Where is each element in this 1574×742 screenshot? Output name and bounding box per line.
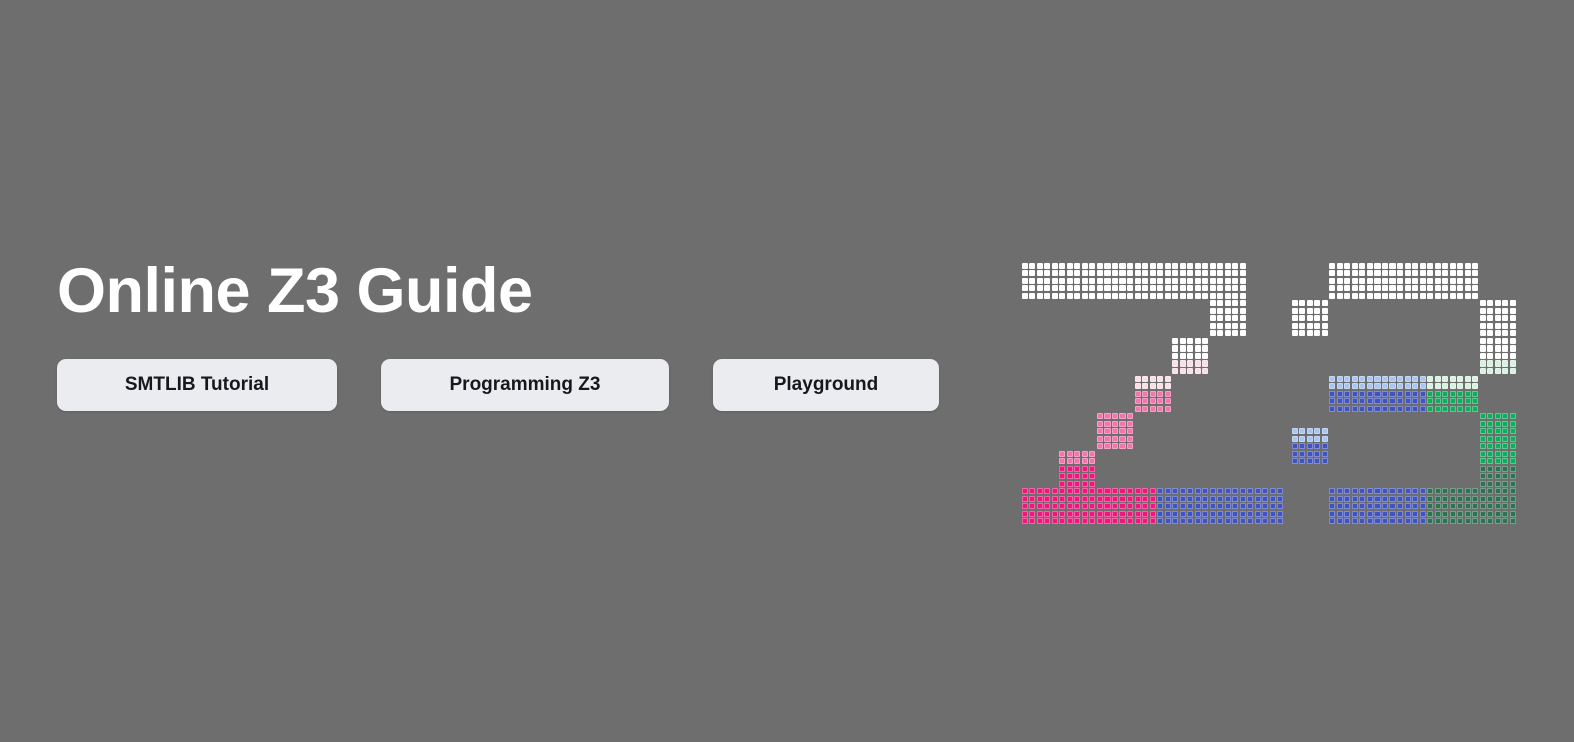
pixel-cell (1382, 488, 1388, 494)
pixel-cell (1435, 406, 1441, 412)
pixel-cell (1292, 330, 1298, 336)
pixel-cell (1405, 383, 1411, 389)
pixel-cell (1217, 330, 1223, 336)
pixel-cell (1135, 496, 1141, 502)
pixel-cell (1277, 496, 1283, 502)
pixel-cell (1337, 376, 1343, 382)
pixel-cell (1359, 376, 1365, 382)
pixel-cell (1382, 398, 1388, 404)
pixel-cell (1292, 451, 1298, 457)
pixel-cell (1119, 496, 1125, 502)
pixel-cell (1240, 263, 1246, 269)
pixel-cell (1420, 383, 1426, 389)
pixel-cell (1472, 406, 1478, 412)
pixel-cell (1202, 285, 1208, 291)
pixel-cell (1292, 458, 1298, 464)
pixel-cell (1119, 511, 1125, 517)
pixel-cell (1435, 511, 1441, 517)
pixel-cell (1097, 518, 1103, 524)
pixel-cell (1487, 368, 1493, 374)
pixel-cell (1104, 436, 1110, 442)
pixel-cell (1150, 503, 1156, 509)
pixel-cell (1074, 466, 1080, 472)
pixel-cell (1232, 293, 1238, 299)
pixel-cell (1367, 270, 1373, 276)
pixel-cell (1165, 376, 1171, 382)
pixel-cell (1150, 383, 1156, 389)
pixel-cell (1195, 345, 1201, 351)
pixel-cell (1435, 278, 1441, 284)
pixel-cell (1097, 413, 1103, 419)
pixel-cell (1082, 466, 1088, 472)
pixel-cell (1052, 496, 1058, 502)
pixel-cell (1202, 353, 1208, 359)
pixel-cell (1502, 353, 1508, 359)
pixel-cell (1420, 391, 1426, 397)
pixel-cell (1270, 511, 1276, 517)
pixel-cell (1067, 496, 1073, 502)
pixel-cell (1142, 383, 1148, 389)
pixel-cell (1299, 428, 1305, 434)
pixel-cell (1397, 518, 1403, 524)
pixel-cell (1495, 315, 1501, 321)
pixel-cell (1450, 376, 1456, 382)
pixel-cell (1217, 488, 1223, 494)
pixel-cell (1412, 496, 1418, 502)
pixel-cell (1104, 428, 1110, 434)
pixel-cell (1119, 443, 1125, 449)
pixel-cell (1240, 270, 1246, 276)
pixel-cell (1420, 496, 1426, 502)
pixel-cell (1412, 270, 1418, 276)
pixel-cell (1082, 451, 1088, 457)
pixel-cell (1172, 360, 1178, 366)
pixel-cell (1442, 503, 1448, 509)
pixel-cell (1450, 278, 1456, 284)
pixel-cell (1180, 368, 1186, 374)
pixel-cell (1119, 270, 1125, 276)
pixel-cell (1382, 270, 1388, 276)
pixel-cell (1299, 315, 1305, 321)
pixel-cell (1457, 270, 1463, 276)
pixel-cell (1427, 278, 1433, 284)
pixel-cell (1074, 488, 1080, 494)
pixel-cell (1420, 263, 1426, 269)
pixel-cell (1412, 511, 1418, 517)
pixel-cell (1165, 406, 1171, 412)
pixel-cell (1225, 263, 1231, 269)
pixel-cell (1225, 315, 1231, 321)
pixel-cell (1142, 518, 1148, 524)
pixel-cell (1135, 391, 1141, 397)
pixel-cell (1344, 398, 1350, 404)
pixel-cell (1307, 323, 1313, 329)
pixel-cell (1044, 518, 1050, 524)
pixel-cell (1157, 278, 1163, 284)
pixel-cell (1307, 428, 1313, 434)
pixel-cell (1352, 406, 1358, 412)
pixel-cell (1389, 376, 1395, 382)
pixel-cell (1150, 406, 1156, 412)
programming-z3-button[interactable]: Programming Z3 (381, 359, 669, 411)
pixel-cell (1457, 406, 1463, 412)
pixel-cell (1450, 391, 1456, 397)
pixel-cell (1487, 421, 1493, 427)
pixel-cell (1359, 496, 1365, 502)
pixel-cell (1450, 503, 1456, 509)
pixel-cell (1480, 511, 1486, 517)
pixel-cell (1029, 278, 1035, 284)
pixel-cell (1367, 376, 1373, 382)
pixel-cell (1232, 496, 1238, 502)
pixel-cell (1202, 511, 1208, 517)
pixel-cell (1510, 511, 1516, 517)
pixel-cell (1420, 488, 1426, 494)
pixel-cell (1435, 518, 1441, 524)
pixel-cell (1082, 285, 1088, 291)
pixel-cell (1277, 488, 1283, 494)
pixel-cell (1510, 300, 1516, 306)
pixel-cell (1195, 488, 1201, 494)
pixel-cell (1465, 496, 1471, 502)
pixel-cell (1187, 511, 1193, 517)
pixel-cell (1510, 330, 1516, 336)
pixel-cell (1135, 263, 1141, 269)
pixel-cell (1487, 308, 1493, 314)
pixel-cell (1150, 391, 1156, 397)
pixel-cell (1374, 270, 1380, 276)
pixel-cell (1502, 315, 1508, 321)
pixel-cell (1442, 376, 1448, 382)
pixel-cell (1314, 323, 1320, 329)
pixel-cell (1465, 383, 1471, 389)
pixel-cell (1232, 330, 1238, 336)
playground-button[interactable]: Playground (713, 359, 939, 411)
pixel-cell (1127, 436, 1133, 442)
pixel-cell (1142, 503, 1148, 509)
pixel-cell (1502, 458, 1508, 464)
pixel-cell (1480, 428, 1486, 434)
pixel-cell (1382, 503, 1388, 509)
pixel-cell (1262, 511, 1268, 517)
pixel-cell (1495, 518, 1501, 524)
pixel-cell (1329, 398, 1335, 404)
pixel-cell (1180, 285, 1186, 291)
pixel-cell (1435, 293, 1441, 299)
pixel-cell (1412, 376, 1418, 382)
pixel-cell (1097, 496, 1103, 502)
pixel-cell (1389, 391, 1395, 397)
pixel-cell (1472, 278, 1478, 284)
pixel-cell (1442, 398, 1448, 404)
pixel-cell (1240, 323, 1246, 329)
pixel-cell (1307, 436, 1313, 442)
pixel-cell (1337, 503, 1343, 509)
pixel-cell (1487, 443, 1493, 449)
pixel-cell (1465, 263, 1471, 269)
pixel-cell (1487, 428, 1493, 434)
pixel-cell (1112, 488, 1118, 494)
pixel-cell (1022, 511, 1028, 517)
pixel-cell (1022, 503, 1028, 509)
pixel-cell (1495, 300, 1501, 306)
pixel-cell (1104, 511, 1110, 517)
pixel-cell (1322, 323, 1328, 329)
pixel-cell (1344, 391, 1350, 397)
pixel-cell (1442, 488, 1448, 494)
smtlib-tutorial-button[interactable]: SMTLIB Tutorial (57, 359, 337, 411)
pixel-cell (1329, 496, 1335, 502)
pixel-cell (1420, 503, 1426, 509)
pixel-cell (1472, 376, 1478, 382)
pixel-cell (1157, 270, 1163, 276)
pixel-cell (1089, 488, 1095, 494)
pixel-cell (1165, 263, 1171, 269)
pixel-cell (1397, 511, 1403, 517)
pixel-cell (1142, 270, 1148, 276)
pixel-cell (1329, 278, 1335, 284)
pixel-cell (1389, 488, 1395, 494)
pixel-cell (1359, 511, 1365, 517)
pixel-cell (1487, 413, 1493, 419)
pixel-cell (1374, 511, 1380, 517)
pixel-cell (1427, 263, 1433, 269)
pixel-cell (1359, 398, 1365, 404)
pixel-cell (1157, 406, 1163, 412)
pixel-cell (1187, 263, 1193, 269)
pixel-cell (1157, 398, 1163, 404)
pixel-cell (1195, 263, 1201, 269)
pixel-cell (1187, 270, 1193, 276)
pixel-cell (1135, 376, 1141, 382)
pixel-cell (1465, 278, 1471, 284)
pixel-cell (1067, 458, 1073, 464)
pixel-cell (1502, 428, 1508, 434)
pixel-cell (1465, 488, 1471, 494)
pixel-cell (1495, 338, 1501, 344)
pixel-cell (1187, 345, 1193, 351)
pixel-cell (1472, 496, 1478, 502)
pixel-cell (1299, 451, 1305, 457)
pixel-cell (1359, 488, 1365, 494)
pixel-cell (1405, 285, 1411, 291)
pixel-cell (1480, 458, 1486, 464)
pixel-cell (1119, 263, 1125, 269)
pixel-cell (1359, 285, 1365, 291)
pixel-cell (1089, 481, 1095, 487)
pixel-cell (1150, 293, 1156, 299)
pixel-cell (1465, 398, 1471, 404)
pixel-cell (1435, 398, 1441, 404)
pixel-cell (1412, 488, 1418, 494)
pixel-cell (1195, 518, 1201, 524)
pixel-cell (1397, 406, 1403, 412)
pixel-cell (1352, 511, 1358, 517)
pixel-cell (1495, 413, 1501, 419)
pixel-cell (1135, 285, 1141, 291)
pixel-cell (1344, 488, 1350, 494)
pixel-cell (1344, 285, 1350, 291)
pixel-cell (1044, 503, 1050, 509)
pixel-cell (1119, 428, 1125, 434)
pixel-cell (1104, 488, 1110, 494)
pixel-cell (1502, 360, 1508, 366)
pixel-cell (1255, 518, 1261, 524)
pixel-cell (1067, 451, 1073, 457)
pixel-cell (1277, 511, 1283, 517)
pixel-cell (1074, 458, 1080, 464)
pixel-cell (1344, 496, 1350, 502)
pixel-cell (1427, 398, 1433, 404)
pixel-cell (1480, 421, 1486, 427)
pixel-cell (1420, 376, 1426, 382)
pixel-cell (1142, 293, 1148, 299)
pixel-cell (1352, 278, 1358, 284)
pixel-cell (1150, 496, 1156, 502)
pixel-cell (1097, 270, 1103, 276)
pixel-cell (1067, 263, 1073, 269)
pixel-cell (1427, 488, 1433, 494)
pixel-cell (1299, 436, 1305, 442)
pixel-cell (1502, 443, 1508, 449)
pixel-cell (1427, 391, 1433, 397)
pixel-cell (1292, 308, 1298, 314)
pixel-cell (1195, 496, 1201, 502)
pixel-cell (1074, 473, 1080, 479)
pixel-cell (1465, 503, 1471, 509)
pixel-cell (1480, 323, 1486, 329)
pixel-cell (1082, 496, 1088, 502)
pixel-cell (1059, 518, 1065, 524)
pixel-cell (1487, 436, 1493, 442)
pixel-cell (1165, 285, 1171, 291)
pixel-cell (1037, 503, 1043, 509)
pixel-cell (1337, 278, 1343, 284)
pixel-cell (1397, 488, 1403, 494)
pixel-cell (1337, 398, 1343, 404)
pixel-cell (1232, 270, 1238, 276)
pixel-cell (1112, 278, 1118, 284)
pixel-cell (1119, 413, 1125, 419)
pixel-cell (1112, 428, 1118, 434)
pixel-cell (1240, 315, 1246, 321)
pixel-cell (1487, 323, 1493, 329)
pixel-cell (1247, 511, 1253, 517)
pixel-cell (1097, 285, 1103, 291)
pixel-cell (1195, 278, 1201, 284)
pixel-cell (1299, 323, 1305, 329)
pixel-cell (1089, 278, 1095, 284)
pixel-cell (1502, 518, 1508, 524)
pixel-cell (1457, 496, 1463, 502)
pixel-cell (1067, 511, 1073, 517)
pixel-cell (1240, 308, 1246, 314)
pixel-cell (1374, 398, 1380, 404)
pixel-cell (1510, 503, 1516, 509)
pixel-cell (1314, 451, 1320, 457)
pixel-cell (1165, 270, 1171, 276)
pixel-cell (1510, 315, 1516, 321)
pixel-cell (1104, 278, 1110, 284)
pixel-cell (1472, 263, 1478, 269)
pixel-cell (1074, 511, 1080, 517)
pixel-cell (1487, 451, 1493, 457)
pixel-cell (1472, 503, 1478, 509)
pixel-cell (1480, 300, 1486, 306)
pixel-cell (1277, 518, 1283, 524)
pixel-cell (1495, 436, 1501, 442)
pixel-cell (1352, 503, 1358, 509)
pixel-cell (1202, 360, 1208, 366)
pixel-cell (1059, 458, 1065, 464)
pixel-cell (1292, 300, 1298, 306)
pixel-cell (1427, 406, 1433, 412)
pixel-cell (1480, 413, 1486, 419)
pixel-cell (1314, 330, 1320, 336)
pixel-cell (1405, 270, 1411, 276)
pixel-cell (1487, 360, 1493, 366)
pixel-cell (1442, 391, 1448, 397)
pixel-cell (1352, 376, 1358, 382)
pixel-cell (1314, 428, 1320, 434)
pixel-cell (1135, 518, 1141, 524)
pixel-cell (1270, 488, 1276, 494)
pixel-cell (1187, 285, 1193, 291)
pixel-cell (1180, 270, 1186, 276)
pixel-cell (1427, 270, 1433, 276)
pixel-cell (1337, 496, 1343, 502)
pixel-cell (1405, 391, 1411, 397)
pixel-cell (1029, 263, 1035, 269)
pixel-cell (1412, 263, 1418, 269)
pixel-cell (1202, 293, 1208, 299)
pixel-cell (1344, 406, 1350, 412)
pixel-cell (1210, 503, 1216, 509)
pixel-cell (1359, 270, 1365, 276)
pixel-cell (1420, 398, 1426, 404)
pixel-cell (1089, 473, 1095, 479)
pixel-cell (1157, 285, 1163, 291)
pixel-cell (1225, 278, 1231, 284)
pixel-cell (1127, 270, 1133, 276)
pixel-cell (1082, 458, 1088, 464)
pixel-cell (1022, 270, 1028, 276)
pixel-cell (1442, 383, 1448, 389)
pixel-cell (1127, 511, 1133, 517)
pixel-cell (1157, 496, 1163, 502)
pixel-cell (1225, 293, 1231, 299)
pixel-cell (1232, 263, 1238, 269)
pixel-cell (1037, 270, 1043, 276)
pixel-cell (1367, 496, 1373, 502)
pixel-cell (1367, 293, 1373, 299)
pixel-cell (1119, 278, 1125, 284)
pixel-cell (1202, 496, 1208, 502)
pixel-cell (1172, 353, 1178, 359)
pixel-cell (1217, 285, 1223, 291)
pixel-cell (1255, 488, 1261, 494)
pixel-cell (1029, 503, 1035, 509)
pixel-cell (1510, 413, 1516, 419)
pixel-cell (1435, 285, 1441, 291)
pixel-cell (1457, 398, 1463, 404)
pixel-cell (1397, 285, 1403, 291)
pixel-cell (1427, 503, 1433, 509)
pixel-cell (1510, 323, 1516, 329)
pixel-cell (1037, 511, 1043, 517)
pixel-cell (1487, 315, 1493, 321)
pixel-cell (1502, 368, 1508, 374)
